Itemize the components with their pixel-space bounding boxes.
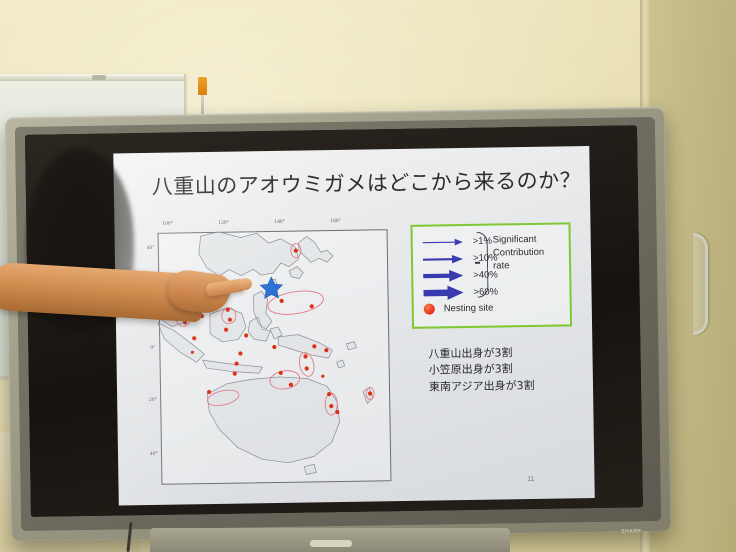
door-handle-icon[interactable] [693, 233, 708, 335]
whiteboard-clip [92, 75, 106, 80]
legend-box: >1% >10% [410, 222, 572, 329]
monitor-stand-slot [310, 540, 352, 547]
slide-note-line-3: 東南アジア出身が3割 [429, 377, 535, 395]
legend-brace-text: Significant Contribution rate [493, 233, 545, 273]
slide-note-line-2: 小笠原出身が3割 [429, 361, 535, 379]
monitor-brand-label: SHARP [621, 528, 641, 534]
arrow-1pct-icon [421, 235, 473, 248]
nesting-site-label: Nesting site [444, 303, 494, 315]
legend-nesting-site-row: Nesting site [424, 303, 494, 315]
slide-notes: 八重山出身が3割 小笠原出身が3割 東南アジア出身が3割 [428, 345, 534, 395]
room-scene: 八重山のアオウミガメはどこから来るのか？ 100° 120° 140° 160°… [0, 0, 736, 552]
presentation-slide: 八重山のアオウミガメはどこから来るのか？ 100° 120° 140° 160°… [113, 146, 594, 505]
slide-page-number: 11 [527, 476, 534, 483]
nesting-site-dot-icon [424, 303, 435, 314]
map-region: 100° 120° 140° 160° 40° 20° 0° 20° 40° [148, 215, 390, 485]
legend-brace-nub [475, 262, 480, 264]
arrow-60pct-icon [421, 285, 473, 301]
pointer-stick-tip [198, 77, 207, 95]
legend-brace-line-1: Significant [493, 233, 544, 247]
arrow-40pct-icon [421, 269, 473, 283]
arrow-10pct-icon [421, 252, 473, 265]
map-graphic [148, 215, 390, 485]
slide-title: 八重山のアオウミガメはどこから来るのか？ [152, 164, 582, 201]
legend-brace [477, 232, 489, 298]
legend-brace-line-2: Contribution [493, 246, 544, 260]
slide-note-line-1: 八重山出身が3割 [428, 345, 534, 363]
legend-brace-line-3: rate [493, 259, 544, 273]
